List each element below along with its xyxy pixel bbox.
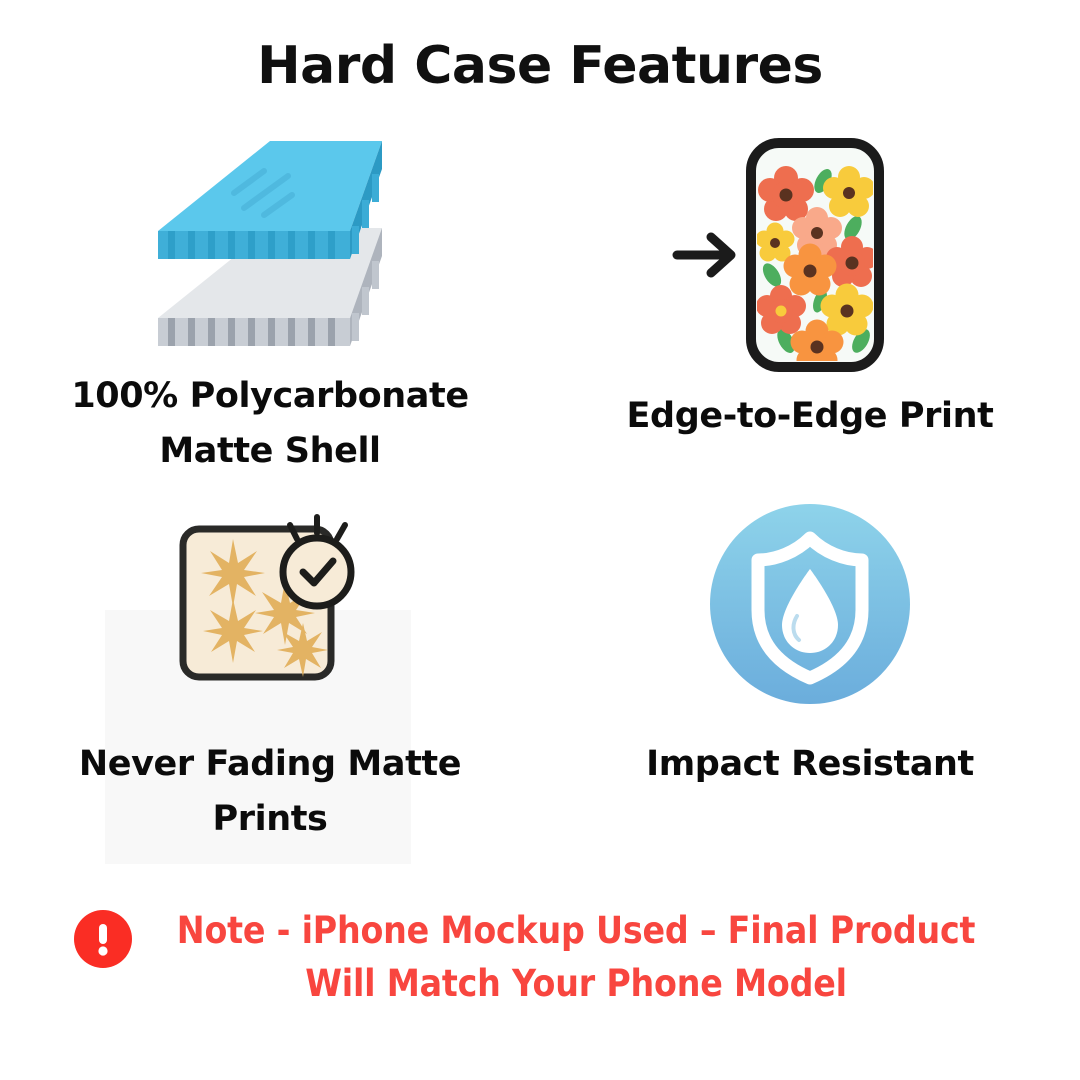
feature-card-never-fading-prints: Never Fading Matte Prints — [0, 476, 540, 848]
feature-label: Edge-to-Edge Print — [540, 389, 1080, 444]
feature-card-edge-to-edge-print: Edge-to-Edge Print — [540, 128, 1080, 444]
feature-label: Never Fading Matte Prints — [0, 737, 540, 848]
feature-label: Impact Resistant — [540, 737, 1080, 792]
floral-phone-case-icon — [665, 133, 955, 378]
exclamation-glyph — [93, 921, 113, 957]
shield-droplet-icon-wrap — [540, 476, 1080, 731]
note-bar: Note - iPhone Mockup Used – Final Produc… — [60, 905, 1020, 1010]
page-title: Hard Case Features — [0, 36, 1080, 96]
note-text: Note - iPhone Mockup Used – Final Produc… — [146, 905, 1006, 1010]
feature-card-polycarbonate-shell: 100% Polycarbonate Matte Shell — [0, 128, 540, 480]
exclamation-circle-icon — [74, 910, 132, 968]
arrow-right-icon — [677, 237, 731, 273]
feature-card-impact-resistant: Impact Resistant — [540, 476, 1080, 792]
feature-label: 100% Polycarbonate Matte Shell — [0, 369, 540, 480]
sparkle-square-check-icon-wrap — [0, 476, 540, 731]
feature-grid: 100% Polycarbonate Matte Shell — [0, 128, 1080, 888]
shield-droplet-icon — [704, 498, 916, 710]
floral-phone-case-icon-wrap — [540, 128, 1080, 383]
layered-sheets-icon-wrap — [0, 128, 540, 363]
layered-sheets-icon — [140, 133, 400, 358]
sparkle-square-check-icon — [155, 489, 385, 719]
